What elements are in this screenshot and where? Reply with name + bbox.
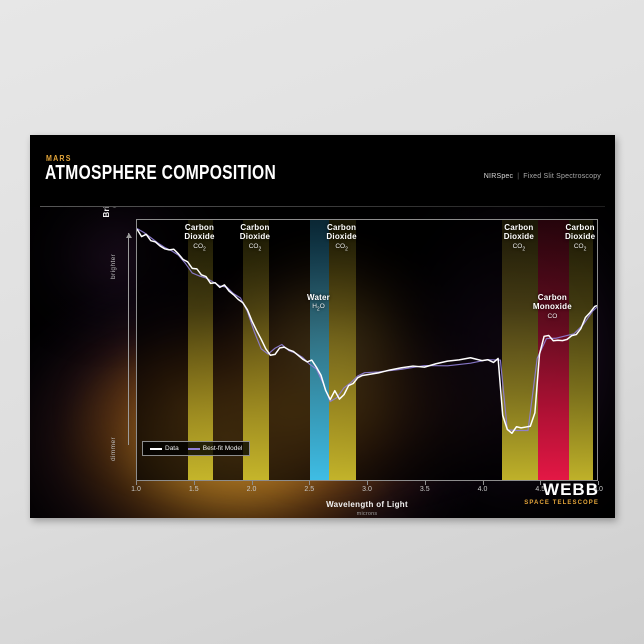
- legend-label-model: Best-fit Model: [203, 445, 243, 452]
- observation-mode: Fixed Slit Spectroscopy: [523, 173, 601, 180]
- x-tick-4: [367, 481, 368, 485]
- x-tick-label-3: 2.5: [304, 486, 314, 493]
- x-tick-5: [425, 481, 426, 485]
- poster-header: MARS ATMOSPHERE COMPOSITION NIRSpec|Fixe…: [30, 135, 615, 207]
- x-tick-label-1: 1.5: [189, 486, 199, 493]
- webb-logo-subtitle: SPACE TELESCOPE: [524, 500, 599, 506]
- legend-item-data: Data: [150, 445, 179, 452]
- x-tick-label-6: 4.0: [478, 486, 488, 493]
- curve-best-fit-model: [137, 229, 597, 431]
- x-axis-label: Wavelength of Light: [326, 500, 408, 509]
- x-tick-1: [194, 481, 195, 485]
- x-axis-units: microns: [136, 511, 598, 517]
- x-tick-label-5: 3.5: [420, 486, 430, 493]
- mars-atmosphere-poster: MARS ATMOSPHERE COMPOSITION NIRSpec|Fixe…: [30, 135, 615, 518]
- x-tick-2: [252, 481, 253, 485]
- instrument-name: NIRSpec: [484, 173, 513, 180]
- header-divider: [40, 206, 605, 207]
- legend-label-data: Data: [165, 445, 179, 452]
- x-tick-3: [309, 481, 310, 485]
- x-tick-label-2: 2.0: [247, 486, 257, 493]
- x-tick-6: [483, 481, 484, 485]
- legend-item-model: Best-fit Model: [188, 445, 243, 452]
- curve-data: [137, 229, 597, 433]
- webb-logo-name: WEBB: [524, 481, 599, 498]
- instrument-info: NIRSpec|Fixed Slit Spectroscopy: [484, 173, 601, 180]
- y-axis-high-label: brighter: [110, 254, 117, 279]
- spectrum-plot: Brightness of Light (reflected and emitt…: [104, 219, 598, 506]
- legend-swatch-model: [188, 448, 200, 450]
- legend-swatch-data: [150, 448, 162, 450]
- page-title: ATMOSPHERE COMPOSITION: [45, 163, 276, 183]
- x-tick-label-0: 1.0: [131, 486, 141, 493]
- x-tick-0: [136, 481, 137, 485]
- webb-logo: WEBB SPACE TELESCOPE: [524, 481, 599, 506]
- y-axis-arrow: [128, 233, 129, 445]
- x-tick-label-4: 3.0: [362, 486, 372, 493]
- y-axis-low-label: dimmer: [110, 437, 117, 461]
- chart-legend: Data Best-fit Model: [142, 441, 250, 456]
- instrument-separator: |: [517, 173, 519, 180]
